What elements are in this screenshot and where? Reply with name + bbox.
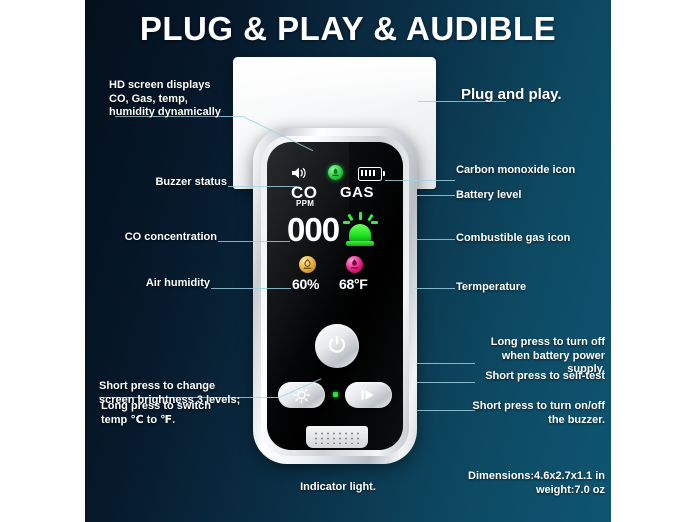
buzzer-button[interactable] [345,382,392,408]
content-panel: PLUG & PLAY & AUDIBLE [85,0,611,522]
annotation-dimensions: Dimensions:4.6x2.7x1.1 in weight:7.0 oz [433,470,605,497]
leader-co-icon [385,180,455,181]
screen-label-row: CO PPM GAS [285,183,385,209]
annotation-temperature: Termperature [456,281,611,295]
humidity-drop-glyph [299,256,316,273]
annotation-plug-and-play: Plug and play. [461,86,611,104]
annotation-indicator-light: Indicator light. [278,481,398,495]
leader-battery [415,195,455,196]
power-icon [327,335,347,355]
annotation-buzzer-status: Buzzer status [127,176,227,190]
gas-label: GAS [340,184,374,201]
thermometer-glyph [346,256,363,273]
co-value: 000 [287,210,339,250]
speaker-grille [306,426,368,448]
co-indicator-icon [328,165,343,180]
annotation-buzzer-toggle: Short press to turn on/off the buzzer. [465,400,605,427]
annotation-combustible-gas-icon: Combustible gas icon [456,232,611,246]
humidity-value: 60% [292,276,319,292]
annotation-hd-screen: HD screen displays CO, Gas, temp, humidi… [109,79,249,120]
temperature-value: 68°F [339,276,368,292]
leader-humidity [211,288,291,289]
annotation-carbon-monoxide-icon: Carbon monoxide icon [456,164,611,178]
screen-icon-row [285,164,385,182]
battery-icon [358,167,382,181]
leader-temperature [415,288,455,289]
leader-buzzer [228,186,297,187]
buzzer-play-icon [359,386,378,404]
screen-reading-row: 000 [285,210,385,252]
indicator-led [333,392,338,397]
infographic-canvas: PLUG & PLAY & AUDIBLE [0,0,695,522]
power-button[interactable] [315,324,359,368]
temperature-icon [346,256,363,273]
speaker-icon [291,166,307,180]
screen-bottom-row: 60% 68°F [285,256,385,296]
green-alarm-beacon-icon [343,212,377,248]
annotation-air-humidity: Air humidity [117,277,210,291]
annotation-co-concentration: CO concentration [103,231,217,245]
annotation-battery-level: Battery level [456,189,611,203]
leader-gas-icon [415,239,455,240]
leader-co-icon-v [85,0,86,9]
annotation-short-press-self-test: Short press to self-test [465,370,605,384]
leader-co-conc [218,241,290,242]
lcd-screen: CO PPM GAS 000 [285,164,385,294]
page-title: PLUG & PLAY & AUDIBLE [85,10,611,48]
co-dot-glyph [328,165,343,180]
annotation-temp-switch: Long press to switch temp ℃ to ℉. [101,400,291,427]
co-unit: PPM [296,199,314,208]
humidity-icon [299,256,316,273]
grille-holes [313,431,361,444]
